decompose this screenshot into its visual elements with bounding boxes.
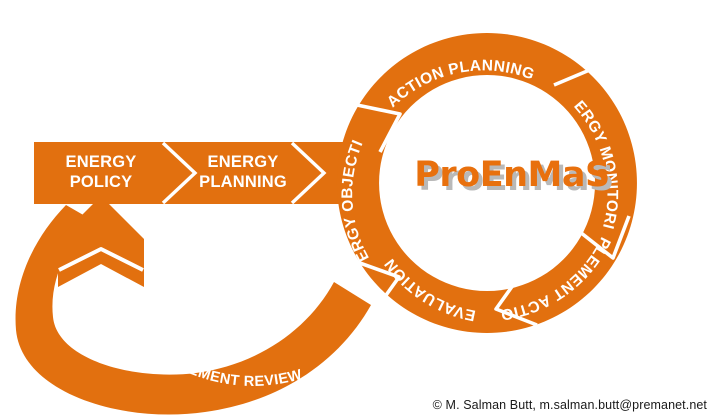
energy-policy-label-line2: POLICY — [70, 173, 133, 191]
energy-policy-label-line1: ENERGY — [66, 153, 137, 171]
energy-planning-label-line1: ENERGY — [208, 153, 279, 171]
footer-credit: © M. Salman Butt, m.salman.butt@premanet… — [433, 398, 707, 412]
center-brand-text: ProEnMaS — [414, 155, 609, 195]
process-cycle-diagram: MANAGEMENT REVIEW ENERGY POLICY ENERGY P… — [0, 0, 715, 418]
energy-planning-label-line2: PLANNING — [199, 173, 287, 191]
process-arrow-bar: ENERGY POLICY ENERGY PLANNING — [34, 142, 378, 204]
diagram-canvas: MANAGEMENT REVIEW ENERGY POLICY ENERGY P… — [0, 0, 715, 418]
management-review-feedback-arrow: MANAGEMENT REVIEW — [16, 196, 371, 415]
center-brand: ProEnMaS ProEnMaS — [414, 155, 613, 199]
